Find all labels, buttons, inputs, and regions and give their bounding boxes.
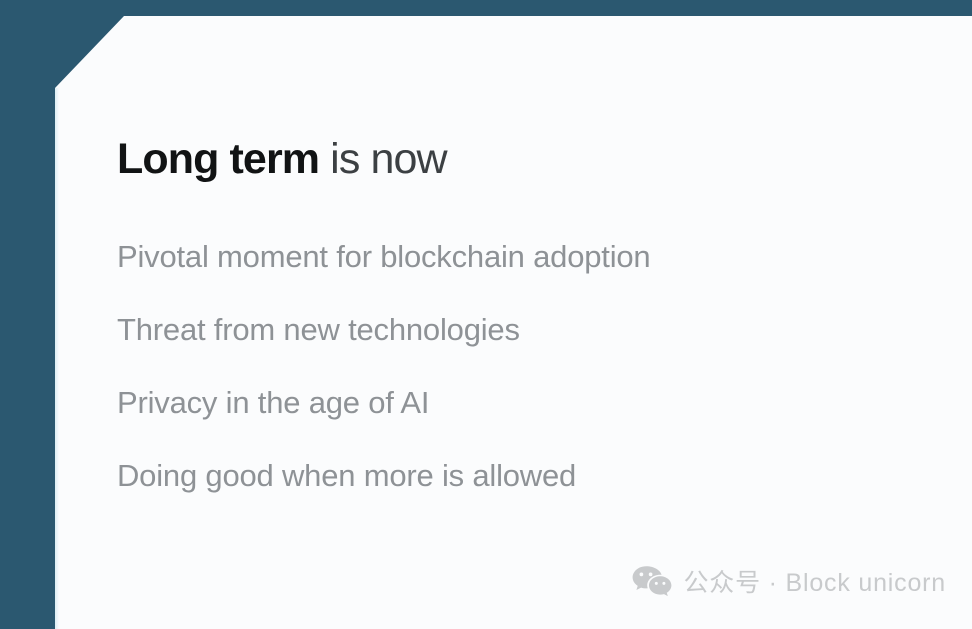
list-item: Doing good when more is allowed	[117, 439, 917, 512]
slide-title: Long term is now	[117, 133, 447, 185]
watermark-label: 公众号 · Block unicorn	[684, 563, 947, 601]
wechat-watermark: 公众号 · Block unicorn	[632, 563, 947, 601]
slide-title-light: is now	[319, 135, 447, 183]
list-item: Pivotal moment for blockchain adoption	[117, 220, 917, 293]
slide-title-strong: Long term	[117, 135, 319, 183]
presentation-slide: Long term is now Pivotal moment for bloc…	[0, 0, 972, 629]
slide-bullet-list: Pivotal moment for blockchain adoption T…	[117, 220, 917, 512]
wechat-icon	[632, 565, 672, 599]
list-item: Privacy in the age of AI	[117, 366, 917, 439]
list-item: Threat from new technologies	[117, 293, 917, 366]
slide-content: Long term is now Pivotal moment for bloc…	[117, 0, 917, 629]
card-edge-highlight	[55, 88, 59, 629]
